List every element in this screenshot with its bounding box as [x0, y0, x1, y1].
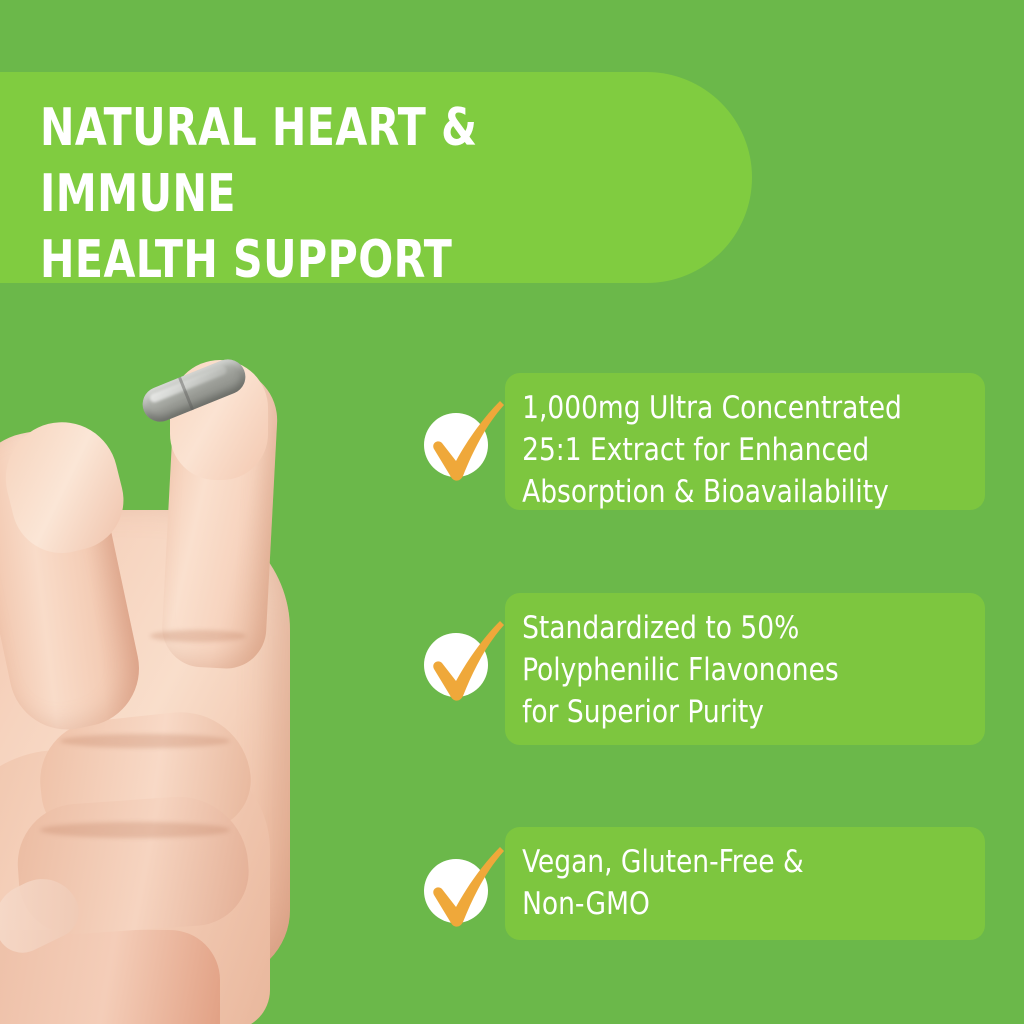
promo-graphic: NATURAL HEART & IMMUNE HEALTH SUPPORT 1,… [0, 0, 1024, 1024]
feature-text: Vegan, Gluten-Free & Non-GMO [505, 827, 961, 939]
page-title: NATURAL HEART & IMMUNE HEALTH SUPPORT [40, 95, 656, 293]
feature-text: 1,000mg Ultra Concentrated 25:1 Extract … [505, 373, 961, 527]
check-mark-icon [418, 395, 510, 487]
check-mark-icon [418, 615, 510, 707]
feature-box[interactable]: Vegan, Gluten-Free & Non-GMO [505, 827, 985, 940]
feature-box[interactable]: 1,000mg Ultra Concentrated 25:1 Extract … [505, 373, 985, 510]
feature-text: Standardized to 50% Polyphenilic Flavono… [505, 593, 961, 747]
check-mark-icon [418, 841, 510, 933]
feature-box[interactable]: Standardized to 50% Polyphenilic Flavono… [505, 593, 985, 745]
hand-holding-capsule-image [0, 330, 400, 1024]
